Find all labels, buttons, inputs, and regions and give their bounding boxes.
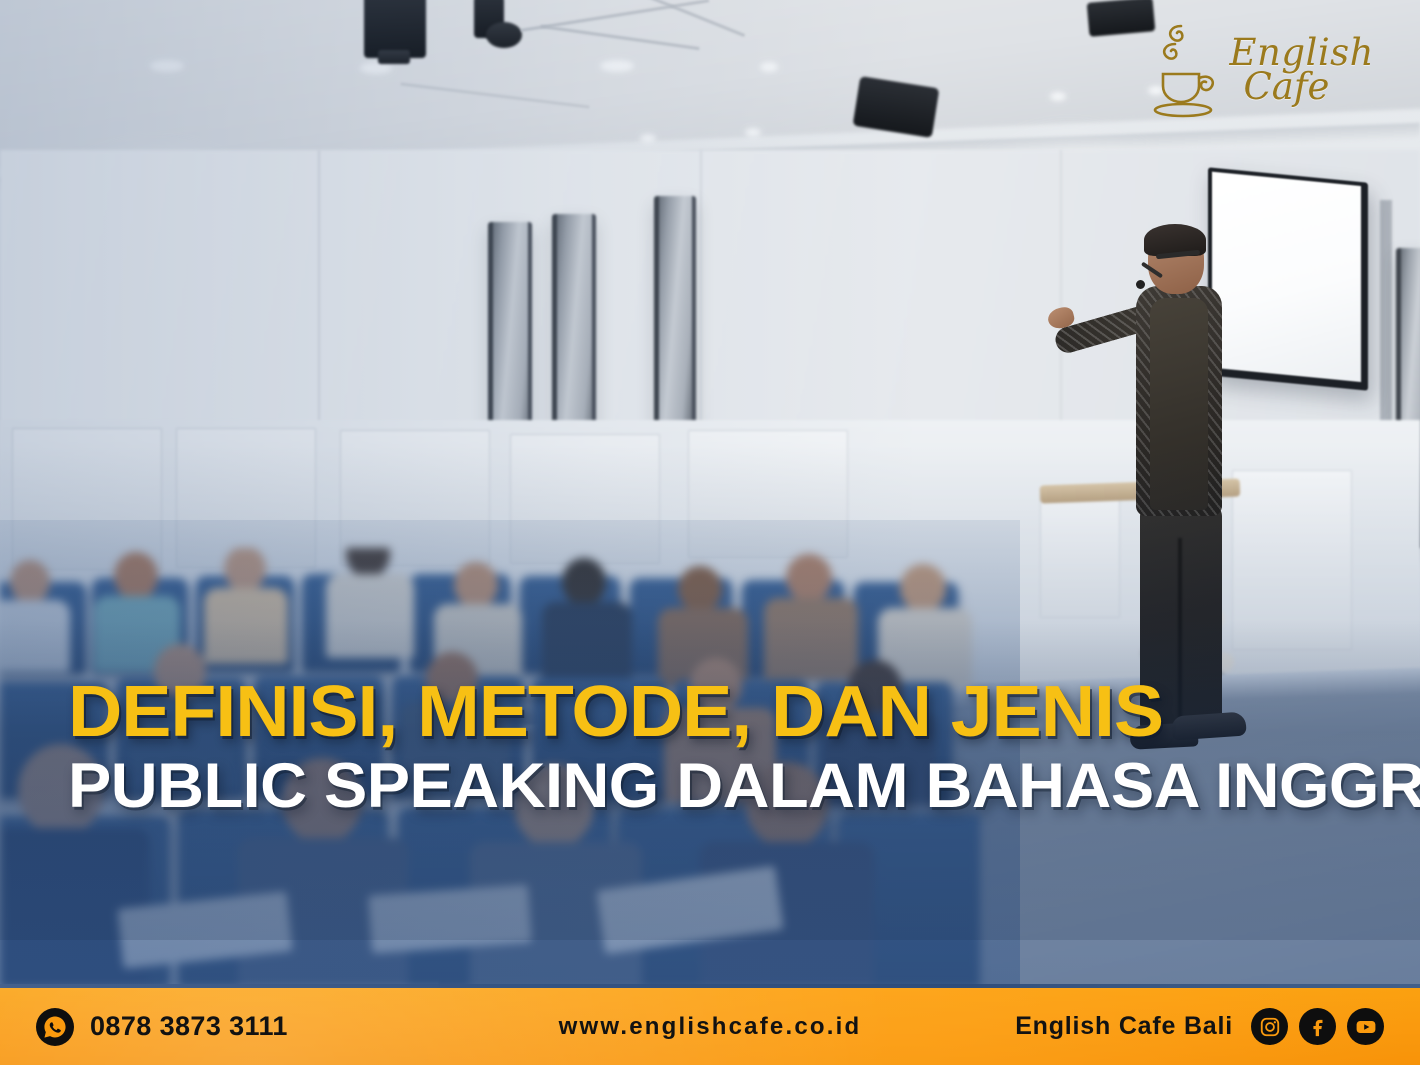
ceiling-spot-light bbox=[640, 134, 656, 143]
audience-person-head bbox=[10, 560, 50, 604]
brand-logo[interactable]: English Cafe bbox=[1151, 22, 1374, 118]
instagram-glyph-icon bbox=[1259, 1016, 1281, 1038]
headline-line-2: PUBLIC SPEAKING DALAM BAHASA INGGRIS bbox=[68, 755, 1407, 818]
wall-cabinet bbox=[510, 434, 660, 564]
youtube-glyph-icon bbox=[1354, 1015, 1378, 1039]
audience-person-head bbox=[454, 562, 498, 608]
stage-light-fixture bbox=[1087, 0, 1156, 37]
stage-light-fixture bbox=[378, 50, 410, 64]
audience-person-body bbox=[204, 588, 288, 664]
whatsapp-glyph-icon bbox=[42, 1014, 68, 1040]
poster-canvas: English Cafe DEFINISI, METODE, DAN JENIS… bbox=[0, 0, 1420, 1065]
audience-person-body bbox=[326, 574, 414, 658]
audience-person-head bbox=[114, 552, 158, 600]
ceiling-spot-light bbox=[745, 128, 761, 137]
stage-light-fixture bbox=[486, 22, 522, 48]
audience-person-body bbox=[542, 602, 632, 682]
headset-microphone-capsule-icon bbox=[1136, 280, 1145, 289]
audience-laptop bbox=[368, 884, 532, 953]
audience-person-head bbox=[678, 566, 722, 612]
youtube-icon[interactable] bbox=[1347, 1008, 1384, 1045]
coffee-cup-icon bbox=[1151, 22, 1223, 118]
footer-bar: 0878 3873 3111 www.englishcafe.co.id Eng… bbox=[0, 988, 1420, 1065]
website-url[interactable]: www.englishcafe.co.id bbox=[450, 1013, 970, 1041]
headline-block: DEFINISI, METODE, DAN JENIS PUBLIC SPEAK… bbox=[68, 678, 1368, 818]
headline-line-1: DEFINISI, METODE, DAN JENIS bbox=[68, 678, 1420, 747]
brand-logo-line2: Cafe bbox=[1243, 70, 1374, 104]
instagram-icon[interactable] bbox=[1251, 1008, 1288, 1045]
wall-cabinet bbox=[340, 430, 490, 566]
ceiling-spot-light bbox=[760, 62, 778, 72]
wall-cabinet bbox=[1040, 488, 1120, 618]
social-links bbox=[1251, 1008, 1384, 1045]
facebook-glyph-icon bbox=[1307, 1016, 1329, 1038]
speaker-vest bbox=[1150, 298, 1208, 510]
footer-contact[interactable]: 0878 3873 3111 bbox=[36, 1008, 288, 1046]
audience-person-body bbox=[764, 598, 858, 680]
audience-person-head bbox=[224, 548, 266, 592]
wall-cabinet bbox=[176, 428, 316, 568]
brand-logo-wordmark: English Cafe bbox=[1229, 36, 1374, 104]
facebook-icon[interactable] bbox=[1299, 1008, 1336, 1045]
wall-cabinet bbox=[688, 430, 848, 558]
audience-person-head bbox=[562, 558, 606, 606]
audience-person-body bbox=[0, 600, 70, 672]
ceiling-spot-light bbox=[1050, 92, 1066, 101]
phone-number[interactable]: 0878 3873 3111 bbox=[90, 1011, 288, 1042]
audience-person-head bbox=[786, 554, 832, 602]
whatsapp-icon[interactable] bbox=[36, 1008, 74, 1046]
ceiling-spot-light bbox=[600, 60, 634, 72]
ceiling-spot-light bbox=[150, 60, 184, 72]
background-photo bbox=[0, 0, 1420, 988]
footer-brand: English Cafe Bali bbox=[1015, 1008, 1384, 1045]
brand-name: English Cafe Bali bbox=[1015, 1012, 1233, 1041]
audience-person-head bbox=[900, 564, 946, 612]
